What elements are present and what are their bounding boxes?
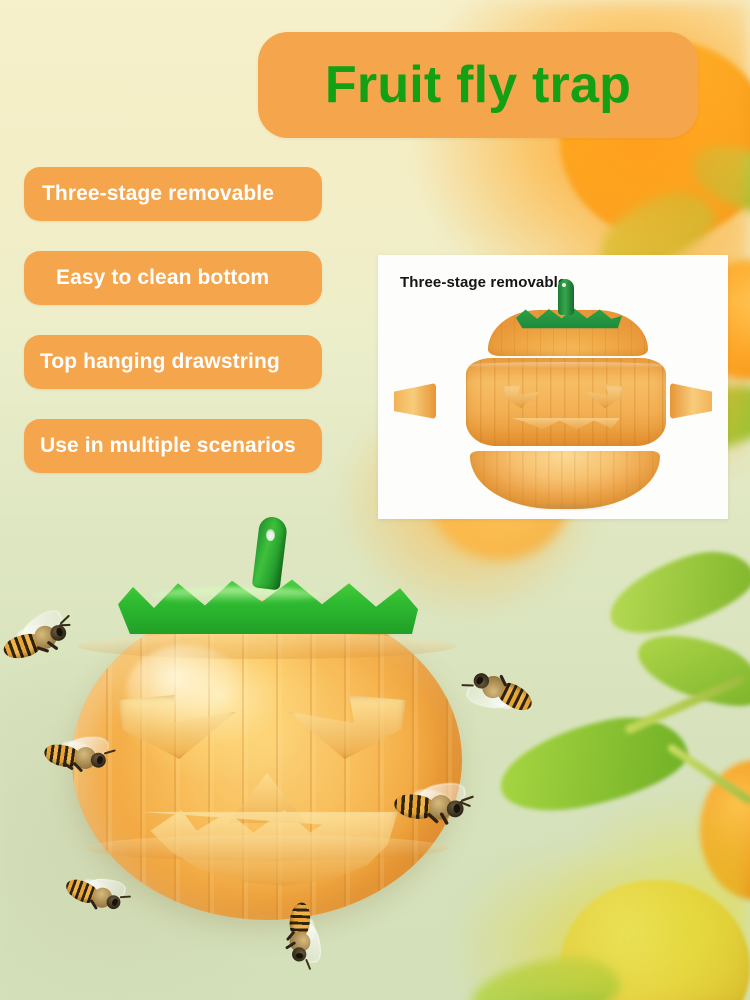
exploded-part-funnel-right [670, 383, 712, 419]
bee-antenna [461, 684, 473, 686]
feature-label: Top hanging drawstring [24, 350, 280, 374]
product-banner: Fruit fly trap Three-stage removable Eas… [0, 0, 750, 1000]
page-title: Fruit fly trap [258, 32, 698, 138]
exploded-view-inset: Three-stage removable [378, 255, 728, 519]
feature-label: Use in multiple scenarios [24, 434, 296, 458]
trap-upper-seam [78, 633, 456, 659]
inset-drop-shadow [498, 501, 638, 513]
exploded-part-funnel-left [394, 383, 436, 419]
exploded-part-stem [558, 279, 574, 315]
feature-item-easy-to-clean-bottom[interactable]: Easy to clean bottom [24, 251, 322, 305]
bee-abdomen [502, 718, 521, 731]
trap-hanging-hole [266, 529, 275, 541]
feature-list: Three-stage removable Easy to clean bott… [24, 167, 322, 503]
feature-label: Three-stage removable [24, 182, 274, 206]
page-title-text: Fruit fly trap [325, 59, 631, 111]
bee-antenna-second [59, 624, 71, 627]
body-rim [466, 362, 666, 369]
product-image [60, 505, 480, 925]
exploded-part-main-body [466, 358, 666, 446]
trap-cap-highlight [152, 587, 322, 603]
body-ridges [466, 358, 666, 446]
feature-item-three-stage-removable[interactable]: Three-stage removable [24, 167, 322, 221]
feature-item-top-hanging-drawstring[interactable]: Top hanging drawstring [24, 335, 322, 389]
inset-caption: Three-stage removable [400, 274, 566, 291]
feature-item-use-in-multiple-scenarios[interactable]: Use in multiple scenarios [24, 419, 322, 473]
bee-bottom-center [283, 901, 318, 964]
feature-label: Easy to clean bottom [24, 266, 269, 290]
trap-stem [252, 516, 289, 591]
